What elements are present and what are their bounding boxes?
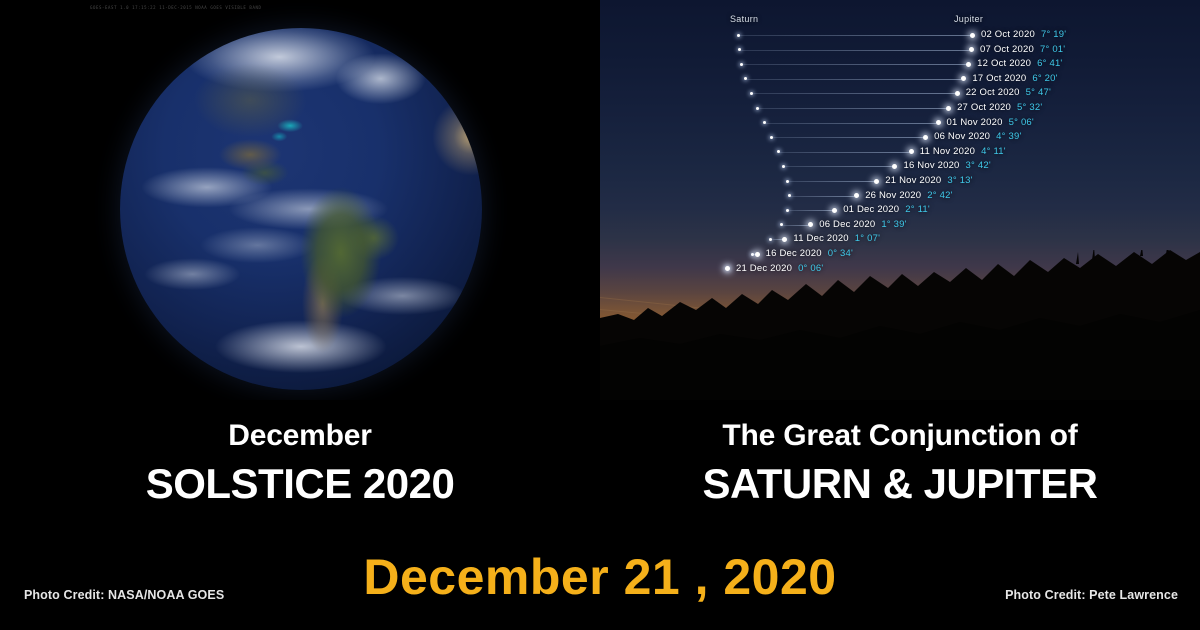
- conjunction-row-separation: 6° 20': [1032, 73, 1057, 84]
- saturn-dot: [780, 223, 783, 226]
- conjunction-row-date: 21 Nov 2020: [885, 175, 941, 186]
- conjunction-row-label: 01 Nov 20205° 06': [947, 117, 1034, 128]
- conjunction-row-label: 12 Oct 20206° 41': [977, 58, 1062, 69]
- conjunction-connector-line: [788, 181, 874, 182]
- saturn-dot: [769, 238, 772, 241]
- left-caption-big: SOLSTICE 2020: [0, 458, 600, 510]
- jupiter-dot: [892, 164, 897, 169]
- conjunction-connector-line: [758, 108, 946, 109]
- conjunction-row-date: 07 Oct 2020: [980, 44, 1034, 55]
- saturn-dot: [782, 165, 785, 168]
- conjunction-row-label: 02 Oct 20207° 19': [981, 29, 1066, 40]
- jupiter-dot: [909, 149, 914, 154]
- conjunction-row-separation: 5° 06': [1009, 117, 1034, 128]
- conjunction-row-date: 22 Oct 2020: [966, 87, 1020, 98]
- conjunction-connector-line: [779, 152, 909, 153]
- conjunction-row-separation: 3° 42': [966, 160, 991, 171]
- conjunction-row-date: 12 Oct 2020: [977, 58, 1031, 69]
- saturn-dot: [777, 150, 780, 153]
- saturn-dot: [740, 63, 743, 66]
- saturn-dot: [756, 107, 759, 110]
- earth-photo-panel: GOES-EAST 1.0 17:15:22 11-DEC-2015 NOAA …: [0, 0, 600, 400]
- conjunction-connector-line: [790, 196, 854, 197]
- satellite-timestamp-overlay: GOES-EAST 1.0 17:15:22 11-DEC-2015 NOAA …: [90, 5, 290, 10]
- conjunction-row-label: 16 Dec 20200° 34': [766, 248, 853, 259]
- saturn-dot: [738, 48, 741, 51]
- jupiter-dot: [755, 252, 760, 257]
- conjunction-connector-line: [771, 239, 782, 240]
- conjunction-connector-line: [752, 93, 955, 94]
- conjunction-row-label: 01 Dec 20202° 11': [843, 204, 930, 215]
- jupiter-dot: [961, 76, 966, 81]
- saturn-dot: [770, 136, 773, 139]
- conjunction-row-date: 01 Nov 2020: [947, 117, 1003, 128]
- conjunction-row-label: 21 Dec 20200° 06': [736, 263, 823, 274]
- conjunction-connector-line: [740, 50, 969, 51]
- conjunction-row-label: 17 Oct 20206° 20': [972, 73, 1057, 84]
- conjunction-row-separation: 1° 39': [881, 219, 906, 230]
- saturn-dot: [786, 209, 789, 212]
- saturn-dot: [744, 77, 747, 80]
- earth-globe: [120, 28, 482, 390]
- earth-limb-shading: [120, 28, 482, 390]
- jupiter-dot: [936, 120, 941, 125]
- jupiter-dot: [946, 106, 951, 111]
- jupiter-dot: [874, 179, 879, 184]
- conjunction-row-date: 01 Dec 2020: [843, 204, 899, 215]
- conjunction-row-separation: 4° 11': [981, 146, 1006, 157]
- conjunction-row-label: 11 Nov 20204° 11': [920, 146, 1006, 157]
- jupiter-dot: [955, 91, 960, 96]
- conjunction-diagram: Saturn Jupiter 02 Oct 20207° 19'07 Oct 2…: [600, 0, 1200, 400]
- conjunction-row-date: 27 Oct 2020: [957, 102, 1011, 113]
- conjunction-connector-line: [742, 64, 966, 65]
- saturn-dot: [786, 180, 789, 183]
- conjunction-row-date: 16 Dec 2020: [766, 248, 822, 259]
- left-caption: December SOLSTICE 2020: [0, 400, 600, 510]
- right-caption-big: SATURN & JUPITER: [600, 458, 1200, 510]
- conjunction-row-label: 06 Dec 20201° 39': [819, 219, 906, 230]
- conjunction-row-date: 11 Dec 2020: [793, 233, 848, 244]
- right-caption-small: The Great Conjunction of: [600, 400, 1200, 458]
- conjunction-row-label: 21 Nov 20203° 13': [885, 175, 972, 186]
- conjunction-row-label: 27 Oct 20205° 32': [957, 102, 1042, 113]
- conjunction-row-date: 11 Nov 2020: [920, 146, 975, 157]
- conjunction-connector-line: [739, 35, 970, 36]
- jupiter-dot: [969, 47, 974, 52]
- conjunction-row-date: 02 Oct 2020: [981, 29, 1035, 40]
- conjunction-row-date: 16 Nov 2020: [903, 160, 959, 171]
- conjunction-connector-line: [765, 123, 936, 124]
- conjunction-row-label: 16 Nov 20203° 42': [903, 160, 990, 171]
- conjunction-row-separation: 6° 41': [1037, 58, 1062, 69]
- saturn-dot: [737, 34, 740, 37]
- saturn-dot: [763, 121, 766, 124]
- conjunction-row-label: 22 Oct 20205° 47': [966, 87, 1051, 98]
- conjunction-row-separation: 3° 13': [947, 175, 972, 186]
- jupiter-dot: [725, 266, 730, 271]
- conjunction-connector-line: [782, 225, 808, 226]
- poster-root: GOES-EAST 1.0 17:15:22 11-DEC-2015 NOAA …: [0, 0, 1200, 630]
- saturn-dot: [750, 92, 753, 95]
- photo-credit-right: Photo Credit: Pete Lawrence: [1005, 588, 1178, 602]
- conjunction-photo-panel: Saturn Jupiter 02 Oct 20207° 19'07 Oct 2…: [600, 0, 1200, 400]
- left-caption-small: December: [0, 400, 600, 458]
- saturn-dot: [751, 253, 754, 256]
- jupiter-dot: [970, 33, 975, 38]
- jupiter-dot: [808, 222, 813, 227]
- conjunction-row-separation: 5° 32': [1017, 102, 1042, 113]
- conjunction-row-separation: 0° 06': [798, 263, 823, 274]
- conjunction-row-label: 07 Oct 20207° 01': [980, 44, 1065, 55]
- conjunction-connector-line: [784, 166, 892, 167]
- conjunction-row-separation: 7° 01': [1040, 44, 1065, 55]
- conjunction-row-date: 17 Oct 2020: [972, 73, 1026, 84]
- conjunction-row-separation: 2° 11': [905, 204, 930, 215]
- conjunction-row-date: 06 Nov 2020: [934, 131, 990, 142]
- conjunction-row-date: 26 Nov 2020: [865, 190, 921, 201]
- conjunction-row-date: 06 Dec 2020: [819, 219, 875, 230]
- jupiter-dot: [854, 193, 859, 198]
- conjunction-row-separation: 7° 19': [1041, 29, 1066, 40]
- conjunction-row-label: 06 Nov 20204° 39': [934, 131, 1021, 142]
- conjunction-row-label: 26 Nov 20202° 42': [865, 190, 952, 201]
- conjunction-row-separation: 5° 47': [1026, 87, 1051, 98]
- conjunction-connector-line: [788, 210, 832, 211]
- right-caption: The Great Conjunction of SATURN & JUPITE…: [600, 400, 1200, 510]
- jupiter-dot: [966, 62, 971, 67]
- photo-credit-left: Photo Credit: NASA/NOAA GOES: [24, 588, 224, 602]
- conjunction-row-separation: 1° 07': [855, 233, 880, 244]
- conjunction-row-separation: 2° 42': [927, 190, 952, 201]
- conjunction-connector-line: [746, 79, 961, 80]
- saturn-dot: [788, 194, 791, 197]
- jupiter-dot: [832, 208, 837, 213]
- conjunction-row-label: 11 Dec 20201° 07': [793, 233, 880, 244]
- conjunction-row-separation: 0° 34': [828, 248, 853, 259]
- caption-band: December SOLSTICE 2020 The Great Conjunc…: [0, 400, 1200, 550]
- conjunction-row-date: 21 Dec 2020: [736, 263, 792, 274]
- conjunction-row-separation: 4° 39': [996, 131, 1021, 142]
- jupiter-dot: [923, 135, 928, 140]
- jupiter-dot: [782, 237, 787, 242]
- conjunction-connector-line: [772, 137, 923, 138]
- conjunction-track: 02 Oct 20207° 19'07 Oct 20207° 01'12 Oct…: [600, 0, 1200, 400]
